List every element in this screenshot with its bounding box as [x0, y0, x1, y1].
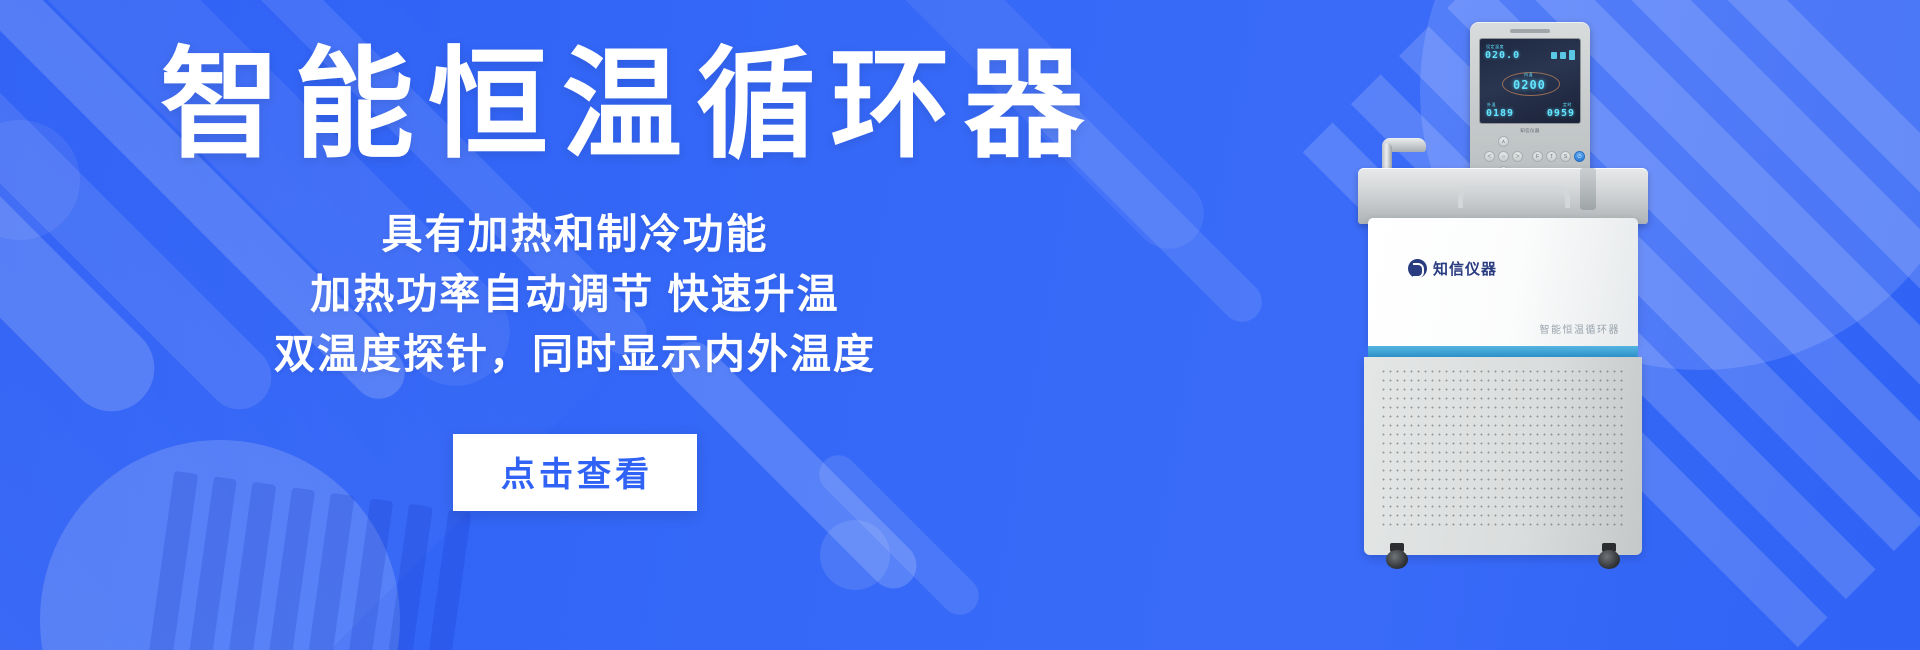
- key-function-s[interactable]: S: [1560, 151, 1571, 162]
- key-up-icon[interactable]: ∧: [1498, 136, 1509, 147]
- controller-head: 设定温度 020.0 内温 0200 外温 0189 定时 0959 知信仪器 …: [1470, 22, 1590, 187]
- key-function-t[interactable]: T: [1546, 151, 1557, 162]
- key-right-icon[interactable]: ＞: [1512, 151, 1523, 162]
- controller-vent-line: [1510, 29, 1550, 33]
- banner-title: 智能恒温循环器: [160, 38, 1098, 172]
- controller-logo-text: 知信仪器: [1520, 128, 1540, 134]
- brand-mark-icon: [1408, 259, 1427, 278]
- caster-wheel-left: [1386, 543, 1408, 569]
- banner-subtitle-2: 加热功率自动调节 快速升温: [0, 265, 1150, 325]
- display-status-icons: [1551, 50, 1575, 60]
- ventilation-grille: [1380, 367, 1626, 531]
- display-main-value: 0200: [1513, 78, 1546, 92]
- key-function-f[interactable]: F: [1532, 151, 1543, 162]
- display-set-temp-value: 020.0: [1485, 50, 1520, 61]
- controller-display: 设定温度 020.0 内温 0200 外温 0189 定时 0959: [1479, 38, 1581, 124]
- caster-wheel-right: [1598, 543, 1620, 569]
- product-image: 设定温度 020.0 内温 0200 外温 0189 定时 0959 知信仪器 …: [1340, 0, 1770, 650]
- promo-banner: 智能恒温循环器 具有加热和制冷功能 加热功率自动调节 快速升温 双温度探针，同时…: [0, 0, 1920, 650]
- view-details-button[interactable]: 点击查看: [453, 434, 697, 511]
- fan-icon: [1551, 52, 1557, 59]
- product-body-upper: 知信仪器 智能恒温循环器: [1368, 218, 1638, 346]
- key-left-icon[interactable]: ＜: [1484, 151, 1495, 162]
- display-left-value: 0189: [1486, 108, 1514, 119]
- display-right-value: 0959: [1547, 108, 1575, 119]
- brand-logo: 知信仪器: [1408, 258, 1497, 279]
- battery-icon: [1569, 50, 1575, 60]
- cta-container: 点击查看: [0, 434, 1150, 511]
- product-model-label: 智能恒温循环器: [1540, 321, 1621, 336]
- product-body-lower: [1364, 357, 1642, 555]
- banner-subtitle-1: 具有加热和制冷功能: [0, 205, 1150, 265]
- brand-name-text: 知信仪器: [1433, 258, 1497, 279]
- key-enter-icon[interactable]: ○: [1498, 151, 1509, 162]
- heat-icon: [1560, 52, 1566, 59]
- banner-subtitle-3: 双温度探针，同时显示内外温度: [0, 325, 1150, 385]
- banner-content: 智能恒温循环器 具有加热和制冷功能 加热功率自动调节 快速升温 双温度探针，同时…: [0, 0, 1150, 650]
- lid-clip: [1580, 168, 1596, 210]
- banner-subtitles: 具有加热和制冷功能 加热功率自动调节 快速升温 双温度探针，同时显示内外温度: [0, 205, 1150, 385]
- lid-handle: [1458, 186, 1570, 208]
- product-accent-band: [1368, 346, 1638, 357]
- key-power-icon[interactable]: ⏻: [1574, 151, 1585, 162]
